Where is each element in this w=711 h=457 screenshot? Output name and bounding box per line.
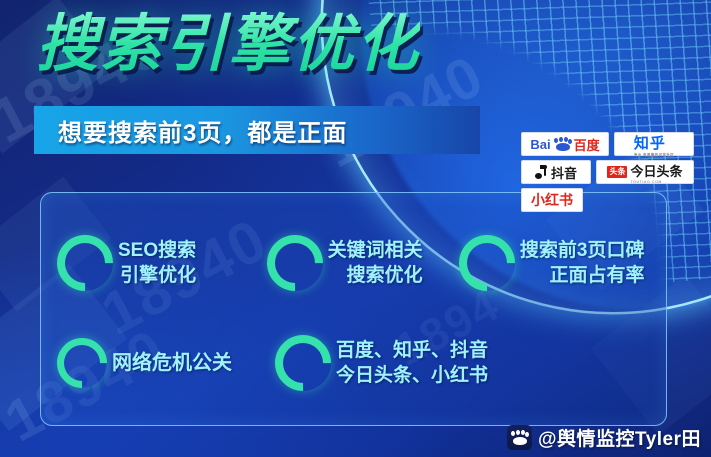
feature-line-1: 搜索前3页口碑 [520, 240, 645, 261]
platform-logo-grid: Bai 百度 知乎 专业 有质量的问答社区 抖音 头条 今日头条 TOUTIAO… [521, 132, 699, 212]
feature-line-1: SEO搜索 [118, 240, 196, 261]
feature-text: 百度、知乎、抖音 今日头条、小红书 [336, 338, 488, 388]
feature-line-1: 百度、知乎、抖音 [336, 340, 488, 361]
poster-canvas: 18940 18940 18940 18940 1894 搜索引擎优化 想要搜索… [0, 0, 711, 457]
toutiao-icon: 今日头条 TOUTIAO.COM [630, 161, 682, 184]
feature-item-keyword: 关键词相关 搜索优化 [267, 211, 459, 315]
feature-item-platforms: 百度、知乎、抖音 今日头条、小红书 [275, 315, 505, 411]
page-title: 搜索引擎优化 [36, 10, 420, 80]
zhihu-tagline: 专业 有质量的问答社区 [634, 153, 674, 157]
c-ring-icon [45, 223, 124, 302]
feature-line-1: 网络危机公关 [112, 352, 232, 374]
logo-baidu: Bai 百度 [521, 132, 609, 156]
logo-toutiao: 头条 今日头条 TOUTIAO.COM [596, 160, 694, 184]
subtitle-text: 想要搜索前3页，都是正面 [34, 113, 347, 148]
zhihu-icon: 知乎 专业 有质量的问答社区 [634, 132, 674, 157]
feature-row: 网络危机公关 百度、知乎、抖音 今日头条、小红书 [57, 315, 656, 411]
baidu-cn-text: 百度 [574, 135, 600, 154]
feature-line-2: 引擎优化 [118, 263, 196, 288]
feature-item-crisis-pr: 网络危机公关 [57, 315, 275, 411]
footer-watermark: @舆情监控Tyler田 [507, 424, 701, 451]
xiaohongshu-cn-text: 小红书 [531, 190, 573, 210]
feature-line-1: 关键词相关 [328, 240, 423, 261]
feature-text: 搜索前3页口碑 正面占有率 [520, 238, 645, 288]
douyin-cn-text: 抖音 [551, 163, 577, 182]
c-ring-icon [255, 223, 334, 302]
feature-text: SEO搜索 引擎优化 [118, 238, 196, 288]
feature-item-seo: SEO搜索 引擎优化 [57, 211, 267, 315]
c-ring-icon [263, 323, 342, 402]
logo-xiaohongshu: 小红书 [521, 188, 583, 212]
feature-text: 关键词相关 搜索优化 [328, 238, 423, 288]
feature-item-top3: 搜索前3页口碑 正面占有率 [459, 211, 656, 315]
zhihu-cn-text: 知乎 [634, 135, 666, 152]
logo-douyin: 抖音 [521, 160, 591, 184]
feature-row: SEO搜索 引擎优化 关键词相关 搜索优化 搜索前3页口碑 正面占有率 [57, 211, 656, 315]
toutiao-tagline: TOUTIAO.COM [630, 180, 682, 184]
author-handle: @舆情监控Tyler田 [538, 424, 701, 451]
music-note-icon [535, 165, 548, 179]
baidu-latin-text: Bai [530, 137, 550, 152]
c-ring-icon [47, 328, 118, 399]
toutiao-cn-text: 今日头条 [630, 164, 682, 179]
baidu-paw-icon [554, 138, 571, 151]
feature-panel: SEO搜索 引擎优化 关键词相关 搜索优化 搜索前3页口碑 正面占有率 [40, 192, 667, 426]
feature-grid: SEO搜索 引擎优化 关键词相关 搜索优化 搜索前3页口碑 正面占有率 [41, 193, 666, 425]
feature-text: 网络危机公关 [112, 351, 232, 376]
feature-line-2: 今日头条、小红书 [336, 363, 488, 388]
baidu-bear-paw-icon [507, 425, 532, 450]
feature-line-2: 搜索优化 [328, 263, 423, 288]
toutiao-badge: 头条 [607, 166, 627, 178]
feature-line-2: 正面占有率 [520, 263, 645, 288]
c-ring-icon [447, 223, 526, 302]
subtitle-ribbon: 想要搜索前3页，都是正面 [34, 106, 480, 154]
logo-zhihu: 知乎 专业 有质量的问答社区 [614, 132, 694, 156]
